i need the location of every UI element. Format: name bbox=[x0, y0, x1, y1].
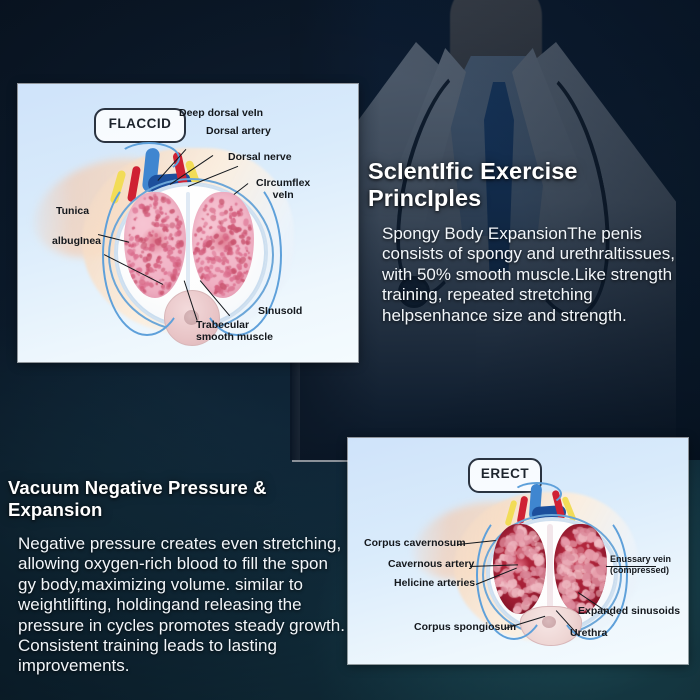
label-corpus-spongiosum: Corpus spongiosum bbox=[414, 622, 516, 634]
vacuum-heading: Vacuum Negative Pressure & Expansion bbox=[8, 477, 350, 521]
label-urethra: Urethra bbox=[570, 628, 607, 640]
flaccid-diagram-panel: FLACCID bbox=[18, 84, 358, 362]
erect-diagram-panel: ERECT bbox=[348, 438, 688, 664]
urethra-lumen-erect bbox=[542, 616, 556, 628]
label-dorsal-artery: Dorsal artery bbox=[206, 126, 271, 138]
label-corpus-cavernosum: Corpus cavernosum bbox=[364, 538, 466, 550]
label-expanded-sinusoids: Expanded sinusoids bbox=[578, 606, 680, 618]
label-trabecular-smooth-muscle: Trabecular smooth muscle bbox=[196, 320, 273, 344]
label-cavernous-artery: Cavernous artery bbox=[388, 559, 474, 571]
scientific-body: Spongy Body ExpansionThe penis consists … bbox=[382, 224, 688, 326]
vacuum-body: Negative pressure creates even stretchin… bbox=[18, 534, 350, 677]
label-albuginea: albugInea bbox=[52, 236, 101, 248]
circumflex-vein-arc-erect bbox=[512, 482, 562, 506]
label-deep-dorsal-vein: Deep dorsal veIn bbox=[179, 108, 263, 120]
label-tunica: Tunica bbox=[56, 206, 89, 218]
scientific-heading: ScIentIfic Exercise PrincIples bbox=[368, 158, 688, 212]
circumflex-vessel-ring-left bbox=[102, 174, 192, 336]
circumflex-vein-arc bbox=[118, 142, 180, 174]
vacuum-pressure-block: Vacuum Negative Pressure & Expansion Neg… bbox=[8, 477, 350, 677]
label-emissary-vein: Enussary vein (compressed) bbox=[610, 554, 671, 577]
infographic-canvas: FLACCID bbox=[0, 0, 700, 700]
label-circumflex-vein: CIrcumflex veIn bbox=[256, 178, 310, 202]
label-dorsal-nerve: Dorsal nerve bbox=[228, 152, 292, 164]
label-sinusoid: SInusoId bbox=[258, 306, 302, 318]
label-helicine-arteries: Helicine arteries bbox=[394, 578, 475, 590]
scientific-principles-block: ScIentIfic Exercise PrincIples Spongy Bo… bbox=[368, 158, 688, 326]
